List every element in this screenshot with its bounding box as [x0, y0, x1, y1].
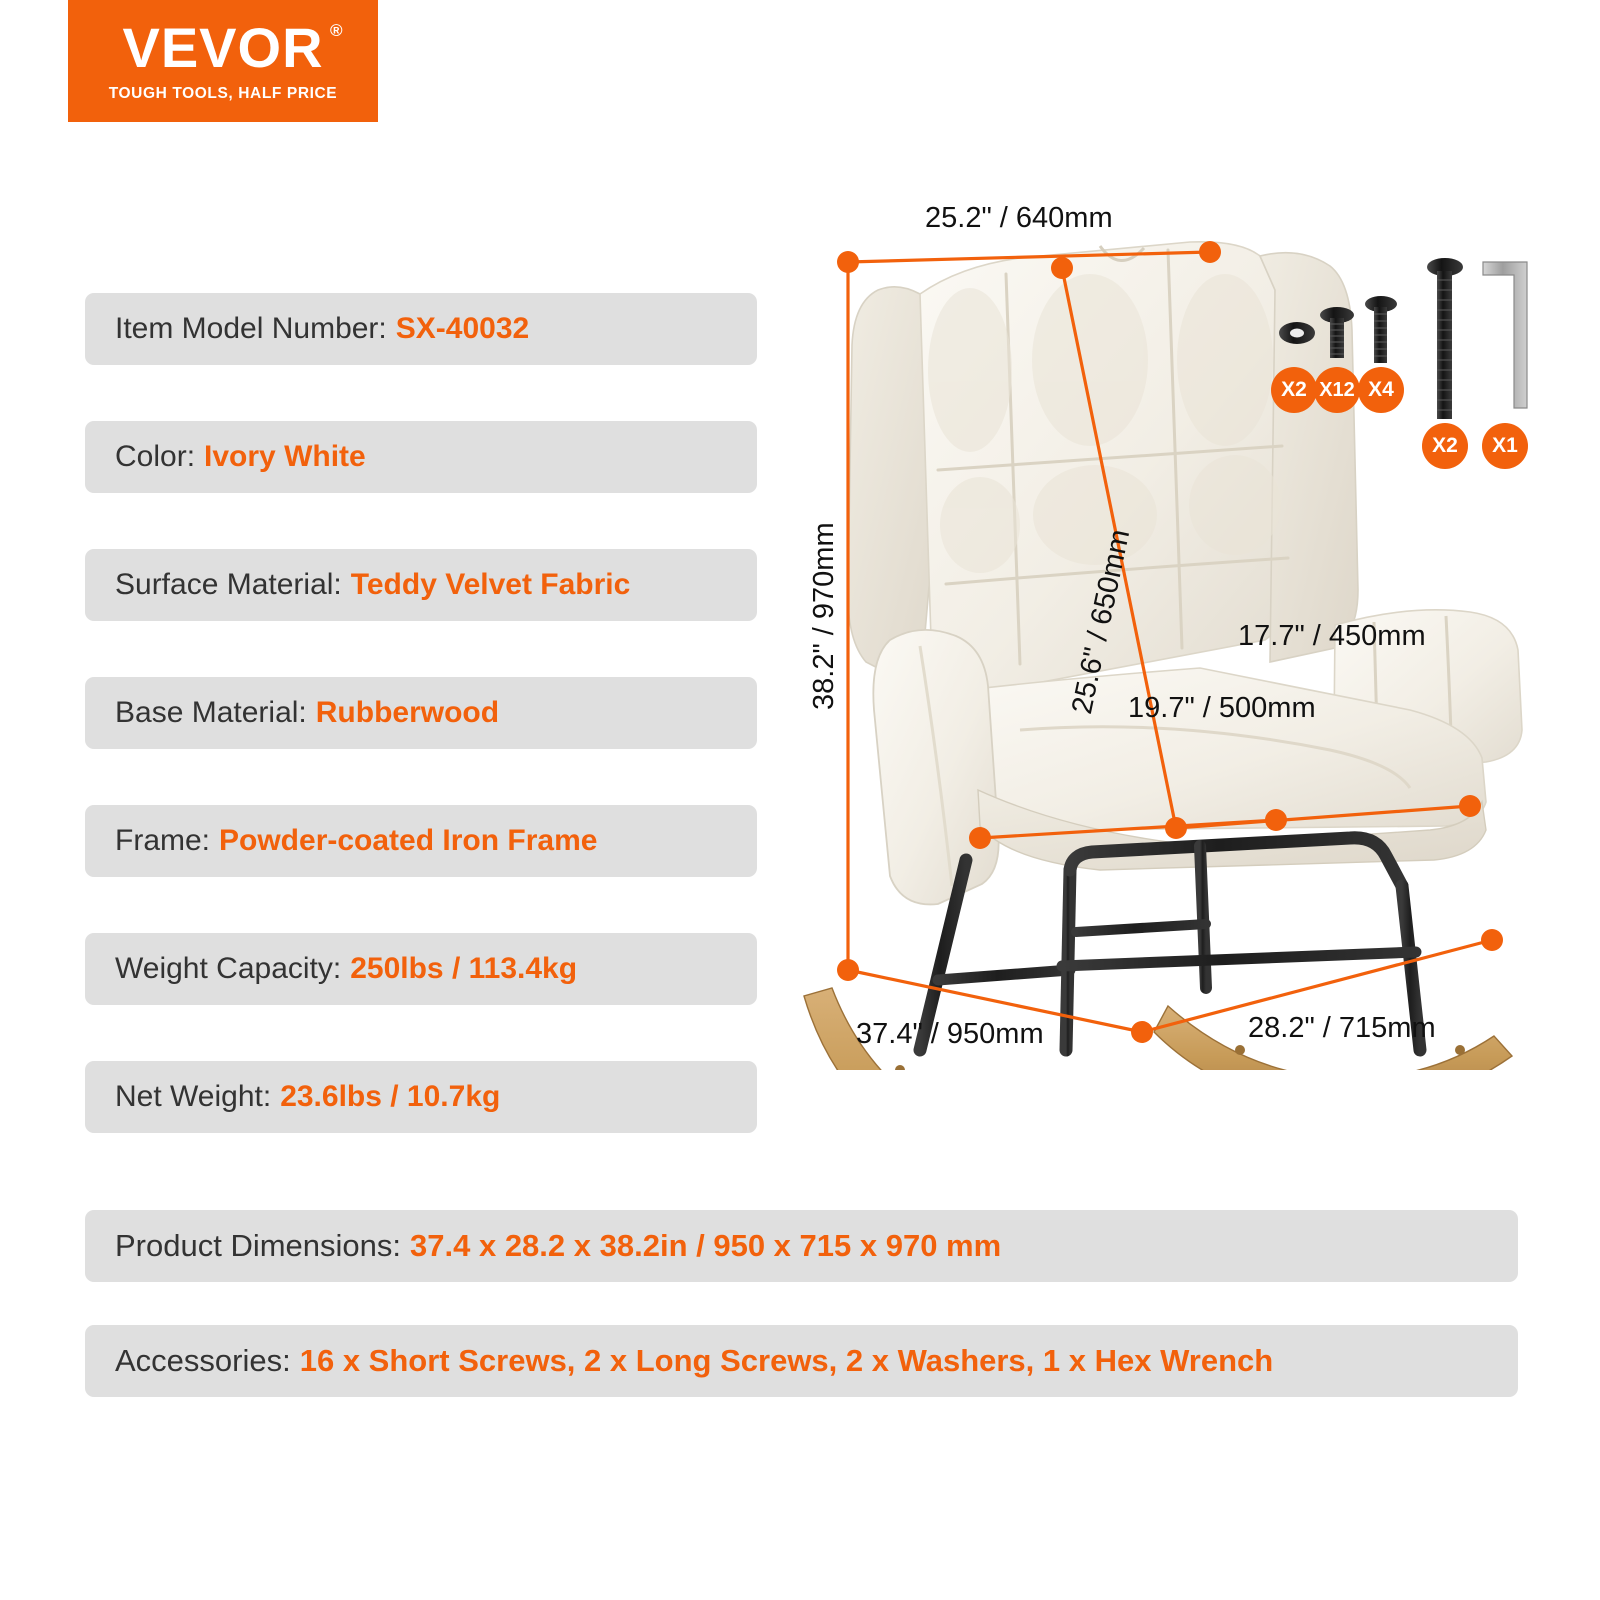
long-screw-icon [1427, 258, 1463, 419]
spec-label: Color: [115, 440, 195, 474]
dim-width-top: 25.2" / 640mm [925, 202, 1113, 235]
dim-seat-width: 19.7" / 500mm [1128, 692, 1316, 725]
spec-row-wide: Accessories:16 x Short Screws, 2 x Long … [85, 1325, 1518, 1397]
spec-value: 37.4 x 28.2 x 38.2in / 950 x 715 x 970 m… [410, 1228, 1001, 1264]
spec-value: Teddy Velvet Fabric [351, 568, 631, 602]
spec-label: Accessories: [115, 1343, 291, 1379]
brand-tagline: TOUGH TOOLS, HALF PRICE [109, 85, 338, 103]
badge-hex-wrench: X1 [1482, 423, 1528, 469]
spec-value: Ivory White [204, 440, 366, 474]
spec-label: Weight Capacity: [115, 952, 341, 986]
spec-label: Net Weight: [115, 1080, 271, 1114]
spec-row: Net Weight:23.6lbs / 10.7kg [85, 1061, 757, 1133]
spec-label: Surface Material: [115, 568, 342, 602]
spec-label: Product Dimensions: [115, 1228, 401, 1264]
spec-value: 16 x Short Screws, 2 x Long Screws, 2 x … [300, 1343, 1273, 1379]
registered-trademark-icon: ® [330, 22, 344, 39]
spec-row: Surface Material:Teddy Velvet Fabric [85, 549, 757, 621]
dim-footprint-depth: 28.2" / 715mm [1248, 1012, 1436, 1045]
hardware-parts: X2 X12 X4 X2 X1 [1265, 240, 1565, 475]
spec-row: Color:Ivory White [85, 421, 757, 493]
washer-icon [1279, 322, 1315, 344]
badge-long-screw: X2 [1422, 423, 1468, 469]
spec-value: Powder-coated Iron Frame [219, 824, 597, 858]
spec-row: Base Material:Rubberwood [85, 677, 757, 749]
spec-label: Frame: [115, 824, 210, 858]
spec-label: Base Material: [115, 696, 307, 730]
spec-row: Item Model Number:SX-40032 [85, 293, 757, 365]
medium-screw-icon [1365, 296, 1397, 363]
dim-footprint-length: 37.4" / 950mm [856, 1018, 1044, 1051]
badge-washer: X2 [1271, 367, 1317, 413]
spec-row-wide: Product Dimensions:37.4 x 28.2 x 38.2in … [85, 1210, 1518, 1282]
vevor-logo: VEVOR ® TOUGH TOOLS, HALF PRICE [68, 0, 378, 122]
spec-label: Item Model Number: [115, 312, 387, 346]
brand-wordmark: VEVOR ® [122, 20, 323, 76]
short-screw-icon [1320, 307, 1354, 358]
spec-value: Rubberwood [316, 696, 499, 730]
spec-row: Frame:Powder-coated Iron Frame [85, 805, 757, 877]
badge-short-screw: X12 [1314, 367, 1360, 413]
dim-height-left: 38.2" / 970mm [808, 522, 841, 710]
hex-wrench-icon [1483, 262, 1527, 408]
spec-value: 23.6lbs / 10.7kg [280, 1080, 500, 1114]
brand-wordmark-text: VEVOR [122, 16, 323, 79]
dim-seat-depth: 17.7" / 450mm [1238, 620, 1426, 653]
spec-row: Weight Capacity:250lbs / 113.4kg [85, 933, 757, 1005]
spec-value: SX-40032 [396, 312, 529, 346]
badge-medium-screw: X4 [1358, 367, 1404, 413]
spec-value: 250lbs / 113.4kg [350, 952, 577, 986]
